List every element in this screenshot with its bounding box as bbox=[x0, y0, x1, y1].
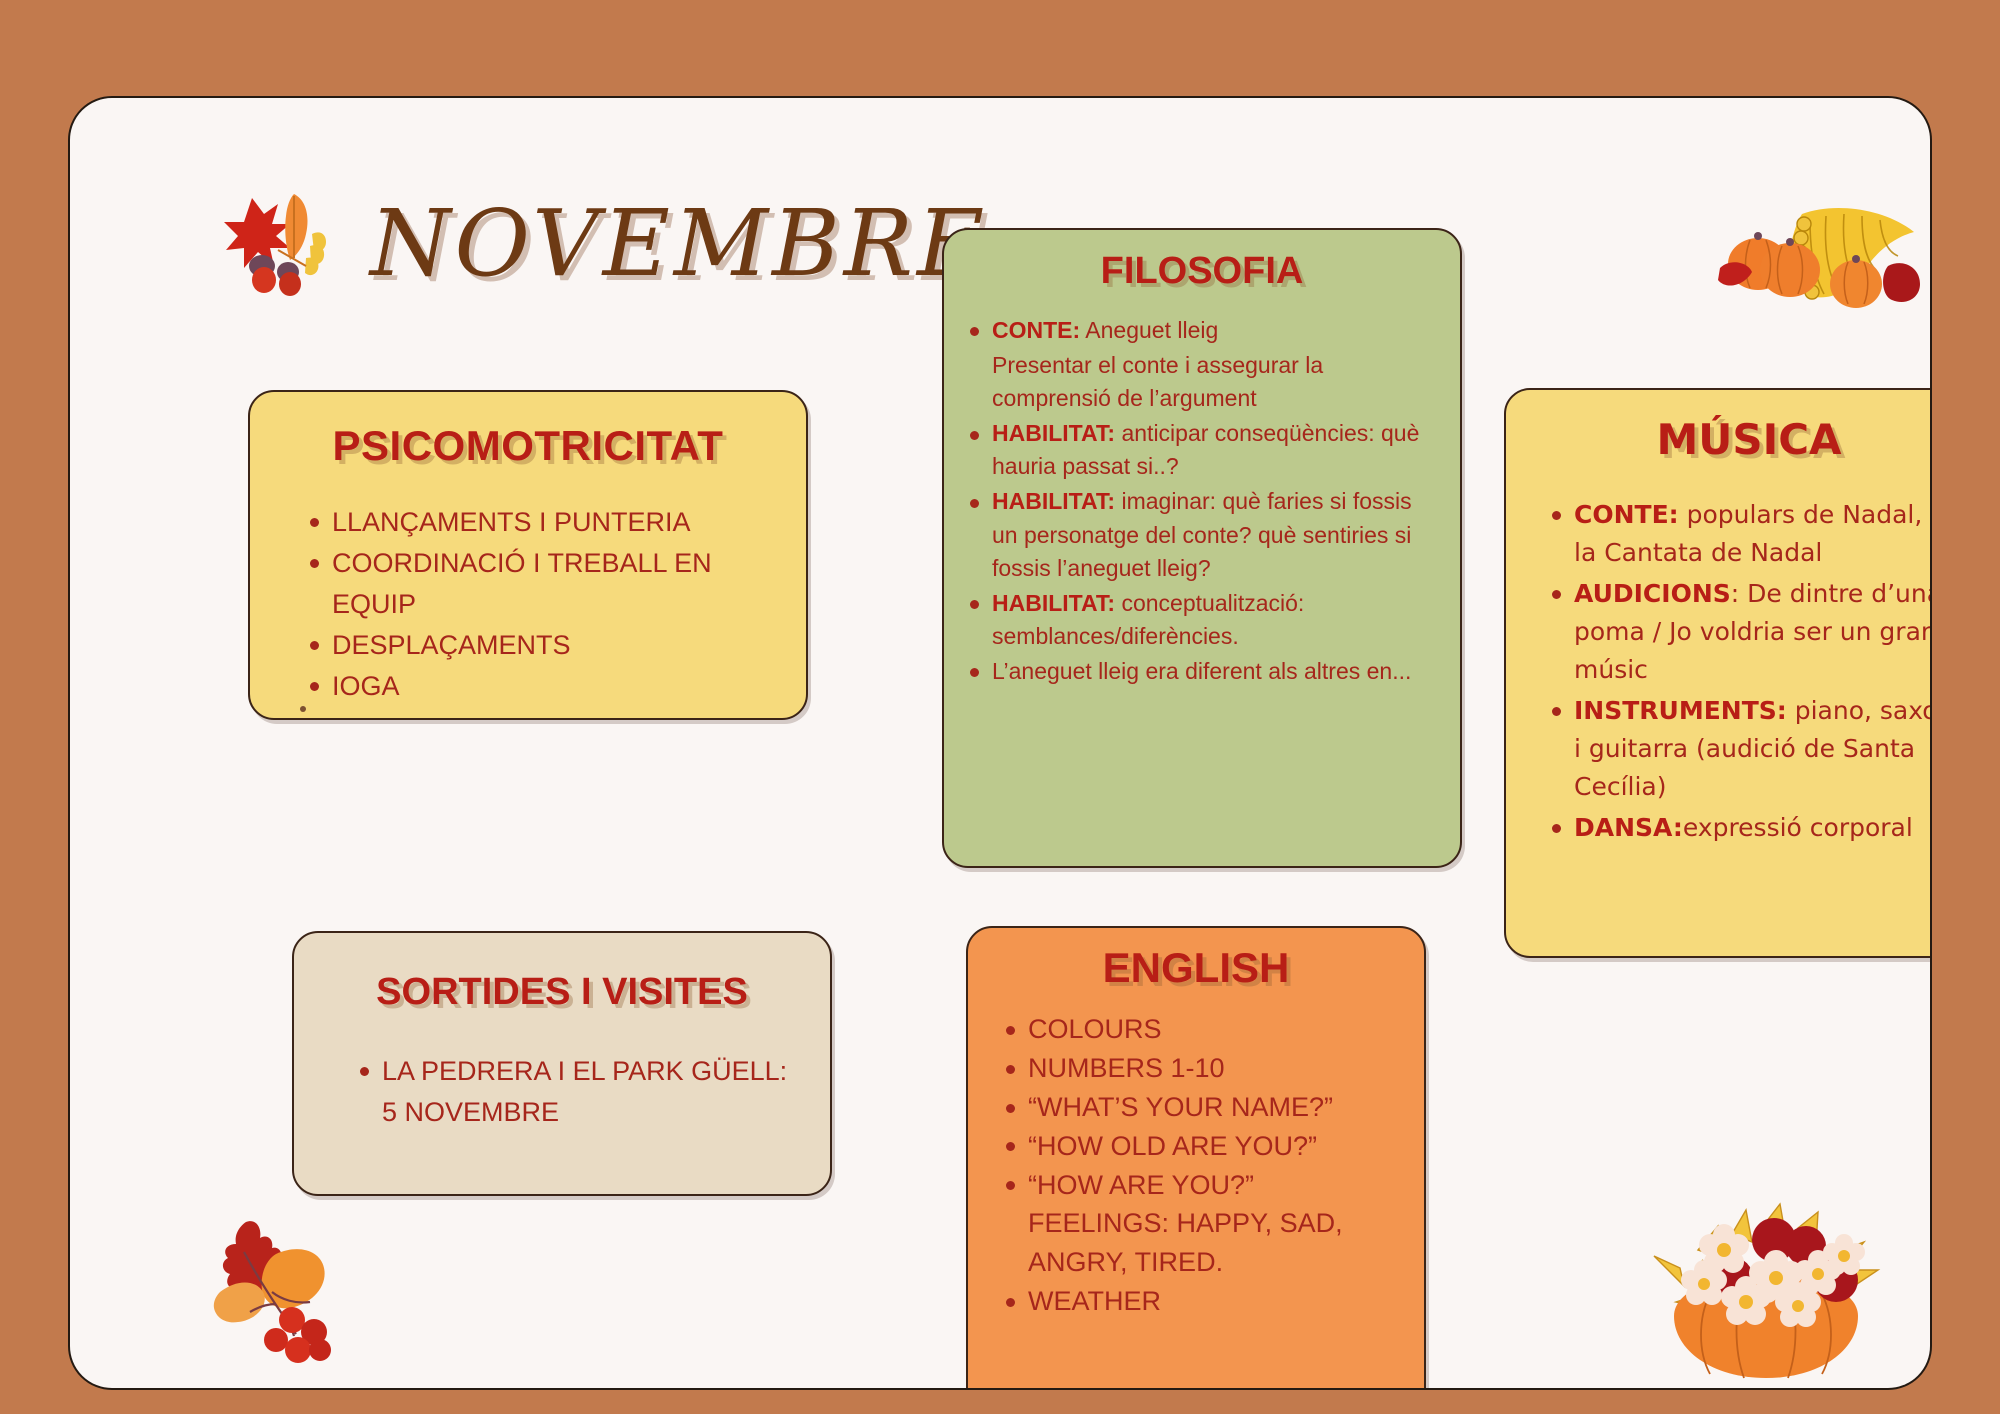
list-item: COORDINACIÓ I TREBALL EN EQUIP bbox=[302, 543, 766, 625]
list-musica: CONTE: populars de Nadal, la Cantata de … bbox=[1544, 496, 1932, 847]
list-item: NUMBERS 1-10 bbox=[998, 1049, 1394, 1088]
list-item-label: CONTE: bbox=[992, 317, 1080, 343]
list-item-label: HABILITAT: bbox=[992, 488, 1115, 514]
list-item: L’aneguet lleig era diferent als altres … bbox=[962, 655, 1434, 688]
card-filosofia[interactable]: FILOSOFIA CONTE: Aneguet lleigPresentar … bbox=[942, 228, 1462, 868]
poster-panel: NOVEMBRE bbox=[68, 96, 1932, 1390]
list-item: LA PEDRERA I EL PARK GÜELL: 5 NOVEMBRE bbox=[352, 1051, 790, 1133]
card-english[interactable]: ENGLISH COLOURSNUMBERS 1-10“WHAT’S YOUR … bbox=[966, 926, 1426, 1390]
list-item: HABILITAT: conceptualització: semblances… bbox=[962, 587, 1434, 653]
list-item: AUDICIONS: De dintre d’una poma / Jo vol… bbox=[1544, 575, 1932, 689]
list-item: DESPLAÇAMENTS bbox=[302, 625, 766, 666]
card-title-sortides: SORTIDES I VISITES bbox=[294, 973, 830, 1013]
list-psicomotricitat: LLANÇAMENTS I PUNTERIACOORDINACIÓ I TREB… bbox=[302, 502, 766, 707]
autumn-leaves-berries-icon bbox=[210, 1208, 360, 1368]
card-title-english: ENGLISH bbox=[968, 946, 1424, 990]
card-musica[interactable]: MÚSICA CONTE: populars de Nadal, la Cant… bbox=[1504, 388, 1932, 958]
list-item-label: INSTRUMENTS: bbox=[1574, 696, 1787, 725]
list-item-label: CONTE: bbox=[1574, 500, 1679, 529]
list-item-label: HABILITAT: bbox=[992, 420, 1115, 446]
list-item: LLANÇAMENTS I PUNTERIA bbox=[302, 502, 766, 543]
list-item: COLOURS bbox=[998, 1010, 1394, 1049]
list-item: “WHAT’S YOUR NAME?” bbox=[998, 1088, 1394, 1127]
page-title: NOVEMBRE bbox=[370, 190, 988, 297]
pumpkin-flowers-icon bbox=[1640, 1198, 1890, 1388]
list-filosofia: CONTE: Aneguet lleigPresentar el conte i… bbox=[962, 314, 1434, 688]
list-item: WEATHER bbox=[998, 1282, 1394, 1321]
list-item: CONTE: populars de Nadal, la Cantata de … bbox=[1544, 496, 1932, 572]
list-item-label: AUDICIONS bbox=[1574, 579, 1731, 608]
list-item: HABILITAT: anticipar conseqüències: què … bbox=[962, 417, 1434, 483]
card-title-musica: MÚSICA bbox=[1506, 418, 1932, 462]
stray-dot bbox=[300, 706, 306, 712]
list-item-label: DANSA: bbox=[1574, 813, 1683, 842]
card-title-filosofia: FILOSOFIA bbox=[944, 252, 1460, 292]
card-title-psicomotricitat: PSICOMOTRICITAT bbox=[250, 424, 806, 468]
list-item: INSTRUMENTS: piano, saxo i guitarra (aud… bbox=[1544, 692, 1932, 806]
list-item-label: HABILITAT: bbox=[992, 590, 1115, 616]
list-item: HABILITAT: imaginar: què faries si fossi… bbox=[962, 485, 1434, 584]
list-item: DANSA:expressió corporal bbox=[1544, 809, 1932, 847]
list-item: Presentar el conte i assegurar la compre… bbox=[962, 349, 1434, 415]
list-sortides: LA PEDRERA I EL PARK GÜELL: 5 NOVEMBRE bbox=[352, 1051, 790, 1133]
list-item: “HOW ARE YOU?” FEELINGS: HAPPY, SAD, ANG… bbox=[998, 1166, 1394, 1283]
list-item: CONTE: Aneguet lleig bbox=[962, 314, 1434, 347]
list-item: “HOW OLD ARE YOU?” bbox=[998, 1127, 1394, 1166]
autumn-leaves-acorns-icon bbox=[206, 190, 346, 310]
list-item: IOGA bbox=[302, 666, 766, 707]
cornucopia-pumpkins-icon bbox=[1706, 198, 1926, 328]
list-english: COLOURSNUMBERS 1-10“WHAT’S YOUR NAME?”“H… bbox=[998, 1010, 1394, 1321]
poster-root: NOVEMBRE bbox=[0, 0, 2000, 1414]
card-psicomotricitat[interactable]: PSICOMOTRICITAT LLANÇAMENTS I PUNTERIACO… bbox=[248, 390, 808, 720]
card-sortides-i-visites[interactable]: SORTIDES I VISITES LA PEDRERA I EL PARK … bbox=[292, 931, 832, 1196]
